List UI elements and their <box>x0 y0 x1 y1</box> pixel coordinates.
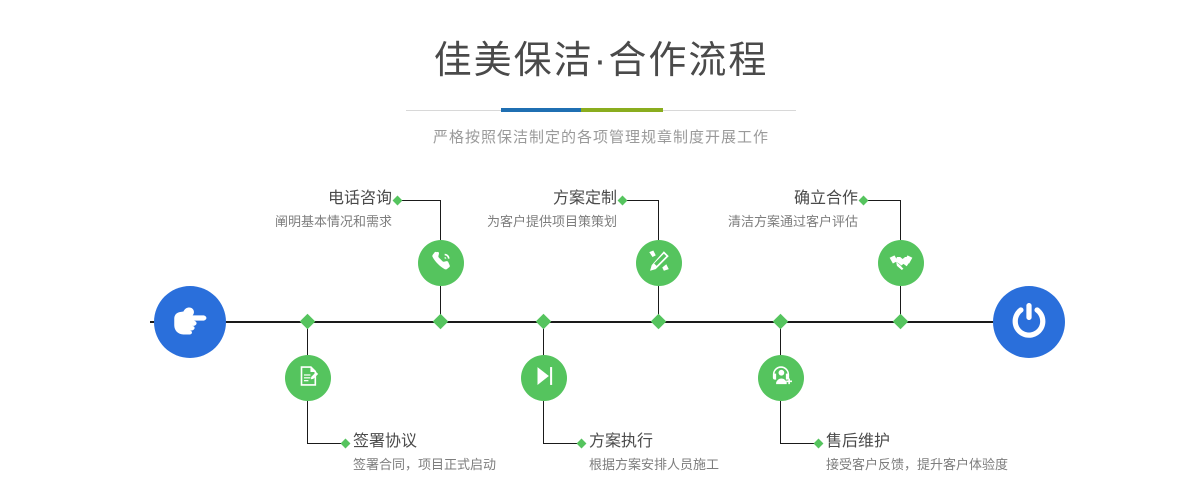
label-title-step-3: 方案定制 <box>395 189 617 209</box>
power-icon <box>1008 299 1050 346</box>
label-step-2: 签署协议 签署合同，项目正式启动 <box>353 432 613 475</box>
play-execute-icon <box>531 363 557 394</box>
node-icon-step-3[interactable] <box>636 240 682 286</box>
label-step-6: 售后维护 接受客户反馈，提升客户体验度 <box>826 432 1126 475</box>
label-desc-step-3: 为客户提供项目策策划 <box>395 212 617 232</box>
axis-diamond-step-3 <box>651 314 667 330</box>
pencil-ruler-icon <box>646 248 672 279</box>
document-edit-icon <box>295 363 321 394</box>
node-icon-step-2[interactable] <box>285 355 331 401</box>
timeline: 电话咨询 阐明基本情况和需求 签署协议 签署合同，项目正式启动 <box>0 0 1202 502</box>
axis-diamond-step-5 <box>893 314 909 330</box>
node-icon-step-1[interactable] <box>418 240 464 286</box>
label-title-step-1: 电话咨询 <box>150 189 392 209</box>
label-title-step-6: 售后维护 <box>826 432 1126 452</box>
label-title-step-2: 签署协议 <box>353 432 613 452</box>
axis-diamond-step-4 <box>536 314 552 330</box>
connector-riser-step-2 <box>307 401 308 443</box>
label-desc-step-6: 接受客户反馈，提升客户体验度 <box>826 455 1126 475</box>
label-desc-step-1: 阐明基本情况和需求 <box>150 212 392 232</box>
customer-service-icon <box>768 363 794 394</box>
connector-riser-step-5 <box>900 200 901 240</box>
label-desc-step-5: 清洁方案通过客户评估 <box>636 212 858 232</box>
label-desc-step-4: 根据方案安排人员施工 <box>589 455 839 475</box>
axis-diamond-step-6 <box>773 314 789 330</box>
label-step-4: 方案执行 根据方案安排人员施工 <box>589 432 839 475</box>
label-step-5: 确立合作 清洁方案通过客户评估 <box>636 189 858 232</box>
label-step-1: 电话咨询 阐明基本情况和需求 <box>150 189 392 232</box>
label-marker-step-3 <box>618 196 628 206</box>
label-marker-step-2 <box>341 439 351 449</box>
timeline-axis <box>150 321 1052 323</box>
timeline-start-endpoint[interactable] <box>154 286 226 358</box>
pointing-hand-icon <box>169 299 211 346</box>
label-marker-step-5 <box>859 196 869 206</box>
label-title-step-5: 确立合作 <box>636 189 858 209</box>
timeline-end-endpoint[interactable] <box>993 286 1065 358</box>
axis-diamond-step-1 <box>433 314 449 330</box>
node-icon-step-5[interactable] <box>878 240 924 286</box>
label-step-3: 方案定制 为客户提供项目策策划 <box>395 189 617 232</box>
label-desc-step-2: 签署合同，项目正式启动 <box>353 455 613 475</box>
label-title-step-4: 方案执行 <box>589 432 839 452</box>
connector-arm-step-5 <box>864 200 901 201</box>
handshake-icon <box>888 248 914 279</box>
phone-call-icon <box>428 248 454 279</box>
flow-diagram-page: 佳美保洁·合作流程 严格按照保洁制定的各项管理规章制度开展工作 <box>0 0 1202 502</box>
node-icon-step-4[interactable] <box>521 355 567 401</box>
axis-diamond-step-2 <box>300 314 316 330</box>
node-icon-step-6[interactable] <box>758 355 804 401</box>
